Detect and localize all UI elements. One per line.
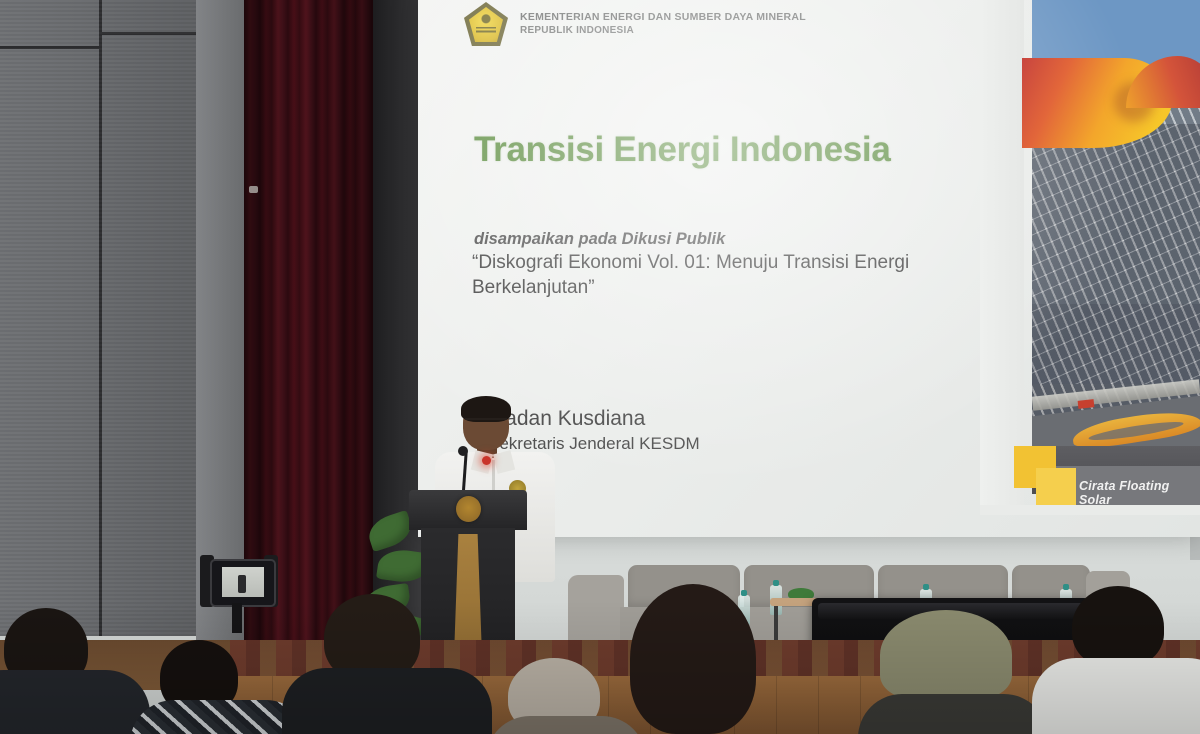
ministry-name-line2: REPUBLIK INDONESIA — [520, 24, 806, 38]
cirata-solar-photo — [1032, 0, 1200, 494]
audience-member-2 — [140, 624, 290, 734]
slide-ministry-header: KEMENTERIAN ENERGI DAN SUMBER DAYA MINER… — [464, 2, 806, 46]
slide-bottom-edge — [980, 505, 1200, 515]
podium-emblem-icon — [456, 496, 481, 522]
yellow-square-2 — [1036, 468, 1076, 508]
kesdm-emblem-icon — [464, 2, 508, 46]
slide-title: Transisi Energi Indonesia — [474, 130, 891, 170]
panel-seam-horizontal — [99, 32, 196, 35]
slide-subtitle-italic: disampaikan pada Dikusi Publik — [474, 230, 725, 249]
slide-subtitle-quoted: “Diskografi Ekonomi Vol. 01: Menuju Tran… — [472, 250, 942, 300]
photo-caption-text: Cirata Floating Solar — [1079, 479, 1200, 507]
audience-member-6 — [862, 606, 1042, 734]
curtain-hook — [249, 186, 258, 193]
smartphone-on-tripod — [196, 551, 282, 621]
wall-pillar — [196, 0, 244, 640]
audience-member-5 — [600, 584, 790, 734]
event-photo-scene: KEMENTERIAN ENERGI DAN SUMBER DAYA MINER… — [0, 0, 1200, 734]
panel-seam-upper — [0, 46, 99, 49]
acoustic-wall-panel-left — [0, 0, 196, 636]
ministry-name-line1: KEMENTERIAN ENERGI DAN SUMBER DAYA MINER… — [520, 10, 806, 24]
microphone-head — [458, 446, 468, 456]
slide-white-column — [980, 0, 1024, 505]
speaker-glasses — [465, 418, 507, 428]
panel-seam-vertical — [99, 0, 102, 636]
audience-member-1 — [0, 604, 140, 734]
audience-member-7 — [1040, 584, 1200, 734]
mic-indicator-light — [482, 456, 491, 465]
audience-member-3 — [296, 594, 466, 734]
